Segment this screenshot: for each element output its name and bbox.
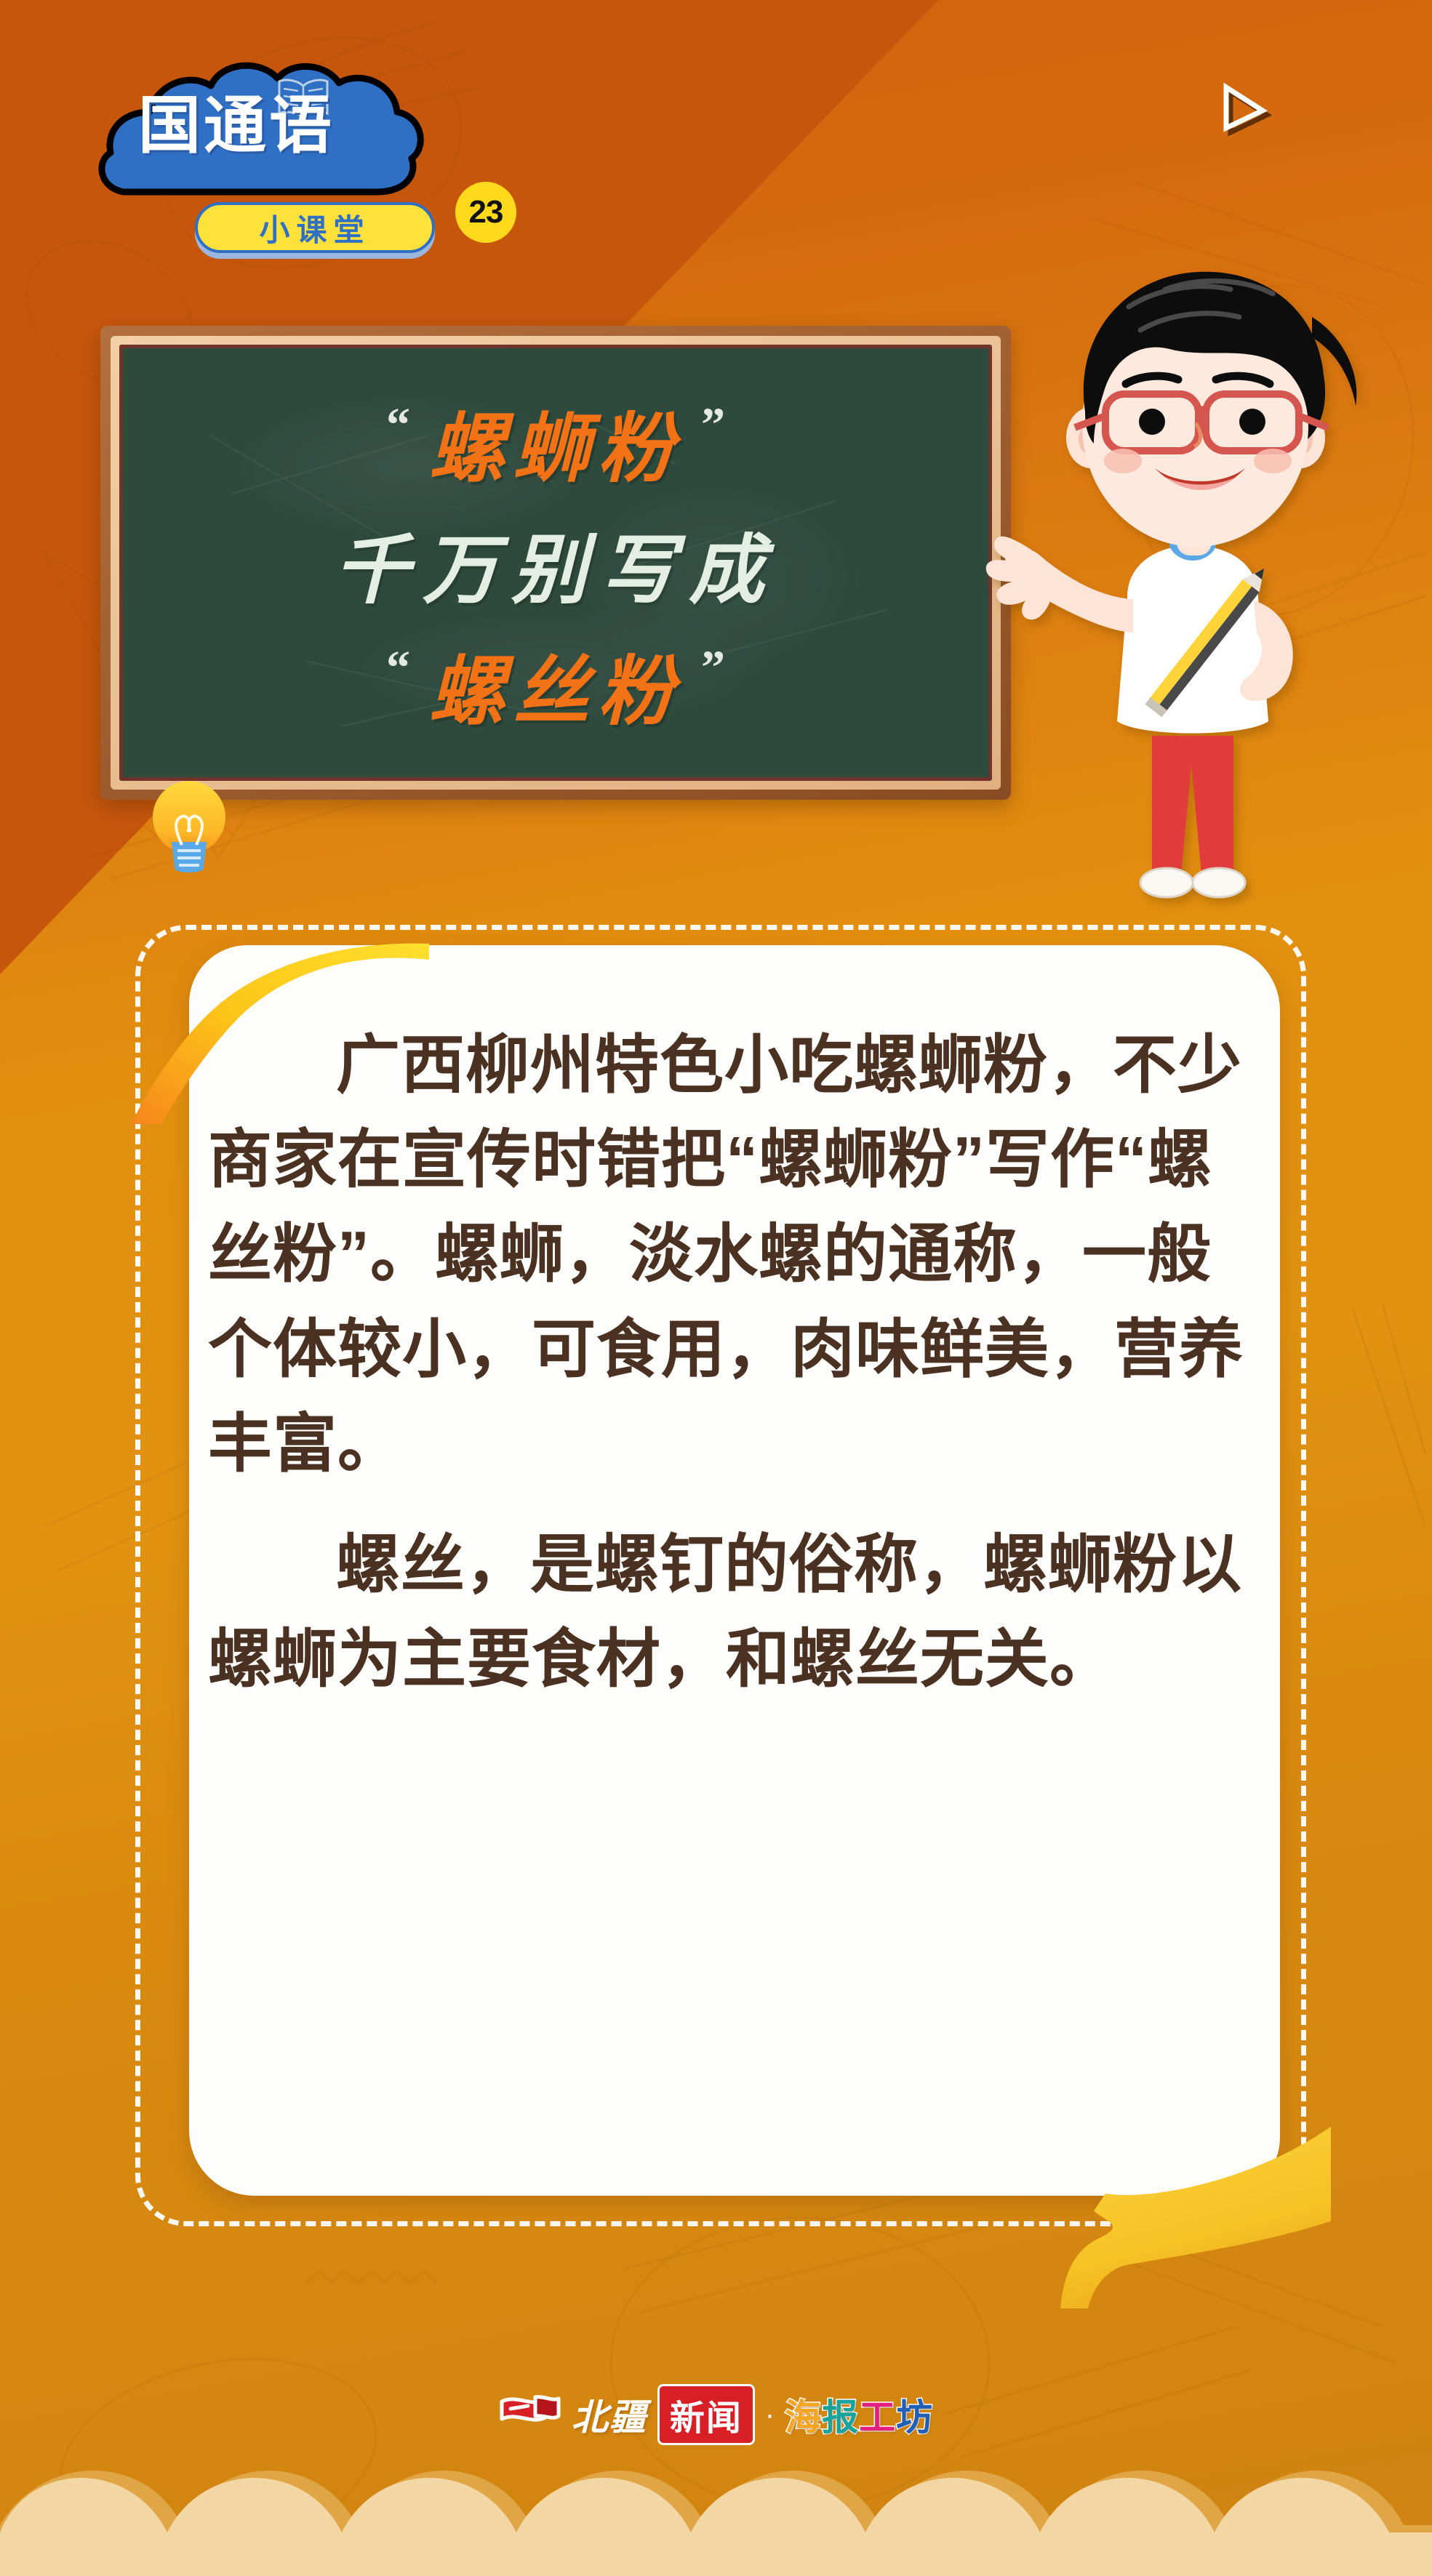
lightbulb-icon [145, 772, 233, 881]
blackboard: “ 螺蛳粉 ” 千万别写成 “ 螺丝粉 ” [100, 326, 1011, 800]
footer-workshop: 海报工坊 [785, 2388, 933, 2441]
left-hand [986, 537, 1052, 619]
workshop-char-2: 报 [822, 2397, 859, 2438]
shirt [1117, 545, 1268, 734]
logo-title: 国通语 [138, 95, 335, 157]
brand-logo[interactable]: 国通语 23 小课堂 [86, 60, 428, 241]
footer-branding: 北疆 新闻 · 海报工坊 [0, 2384, 1432, 2445]
blackboard-term-wrong: 螺丝粉 [429, 630, 682, 739]
blackboard-term-correct: 螺蛳粉 [429, 387, 682, 497]
blackboard-warning: 千万别写成 [334, 508, 777, 618]
footer-separator: · [765, 2400, 775, 2429]
blackboard-text: “ 螺蛳粉 ” 千万别写成 “ 螺丝粉 ” [123, 348, 988, 777]
card-body-text: 广西柳州特色小吃螺蛳粉，不少商家在宣传时错把“螺蛳粉”写作“螺丝粉”。螺蛳，淡水… [208, 1018, 1255, 1717]
logo-subtitle: 小课堂 [259, 206, 370, 250]
quote-close-2: ” [701, 641, 725, 696]
blackboard-inner-frame: “ 螺蛳粉 ” 千万别写成 “ 螺丝粉 ” [111, 336, 1001, 790]
episode-badge: 23 [455, 182, 516, 243]
workshop-char-4: 坊 [896, 2397, 933, 2438]
scallop-wave-light [0, 2467, 1432, 2576]
blackboard-surface: “ 螺蛳粉 ” 千万别写成 “ 螺丝粉 ” [119, 345, 992, 781]
workshop-char-1: 海 [785, 2397, 822, 2438]
paragraph-1: 广西柳州特色小吃螺蛳粉，不少商家在宣传时错把“螺蛳粉”写作“螺丝粉”。螺蛳，淡水… [208, 1018, 1255, 1491]
footer-brand: 北疆 [572, 2388, 647, 2441]
blackboard-line-2: 千万别写成 [334, 508, 777, 618]
play-triangle-icon[interactable] [1215, 79, 1273, 137]
poster-root: 国通语 23 小课堂 “ 螺蛳粉 ” [0, 0, 1432, 2576]
red-flag-icon [499, 2393, 561, 2436]
quote-close-1: ” [701, 398, 725, 453]
footer-news-tag: 新闻 [657, 2384, 755, 2445]
paragraph-2: 螺丝，是螺钉的俗称，螺蛳粉以螺蛳为主要食材，和螺丝无关。 [208, 1517, 1255, 1706]
blackboard-line-3: “ 螺丝粉 ” [386, 630, 725, 739]
logo-subtitle-banner: 小课堂 [195, 202, 435, 253]
ribbon-fold-bottom-right-icon [1018, 2112, 1331, 2316]
boy-teacher-illustration [983, 256, 1432, 918]
quote-open-2: “ [386, 641, 410, 696]
quote-open-1: “ [386, 398, 410, 453]
blackboard-line-1: “ 螺蛳粉 ” [386, 387, 725, 497]
workshop-char-3: 工 [859, 2397, 896, 2438]
legs [1152, 736, 1233, 874]
